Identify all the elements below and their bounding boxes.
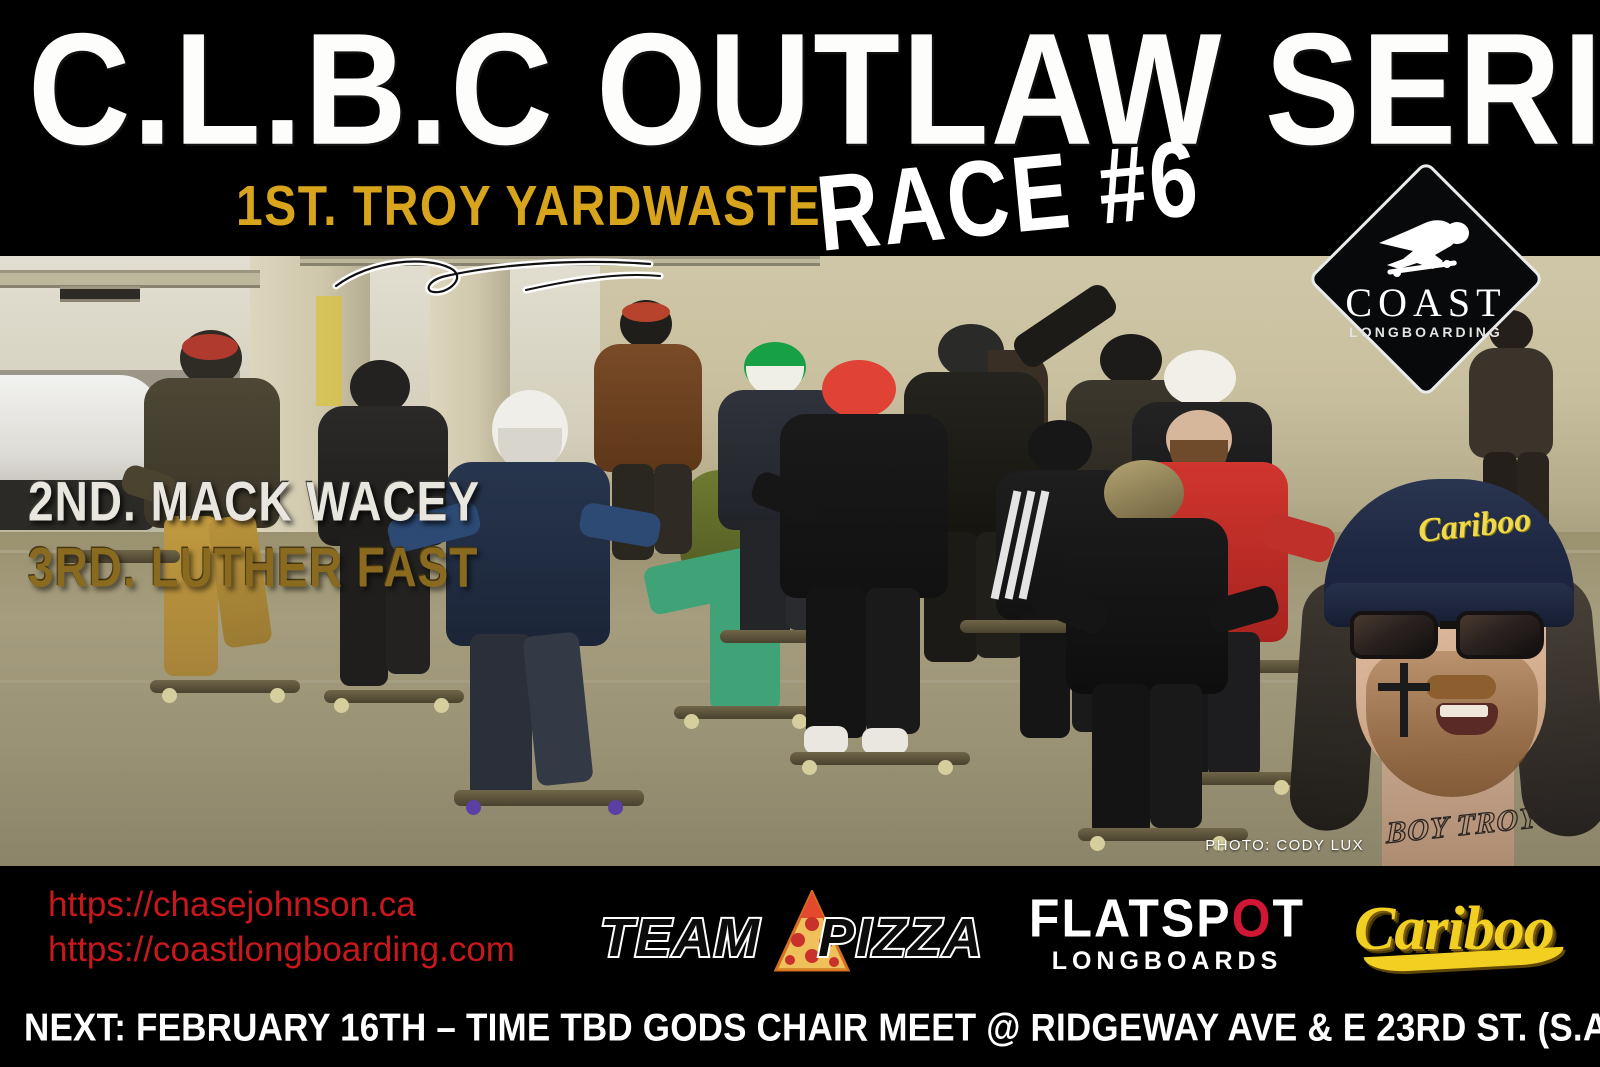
page-title: C.L.B.C OUTLAW SERIES [28, 6, 1576, 174]
placings-overlay: 2ND. MACK WACEY 3RD. LUTHER FAST [28, 470, 480, 588]
cariboo-logo[interactable]: Cariboo [1348, 886, 1588, 974]
team-pizza-logo[interactable]: TEAM PIZZA [596, 888, 996, 972]
flatspot-word-post: T [1273, 888, 1306, 948]
signature-scribble [330, 250, 670, 306]
racer-figure [430, 390, 660, 810]
first-place-text: 1ST. TROY YARDWASTE [236, 178, 821, 237]
winner-portrait-cutout: Cariboo BOY TROY [1290, 455, 1600, 867]
coast-wordmark: COAST [1345, 283, 1506, 323]
racer-figure [1048, 460, 1248, 840]
second-place-text: 2ND. MACK WACEY [28, 470, 480, 532]
sunglass-lens-right [1456, 611, 1544, 659]
flatspot-tagline: LONGBOARDS [1022, 948, 1312, 975]
race-poster: PHOTO: CODY LUX 2ND. MACK WACEY 3RD. LUT… [0, 0, 1600, 1067]
url-list: https://chasejohnson.ca https://coastlon… [48, 882, 515, 972]
url-coastlongboarding[interactable]: https://coastlongboarding.com [48, 927, 515, 972]
flatspot-wordmark: FLATSPOT [1022, 890, 1312, 946]
moustache [1426, 675, 1496, 699]
team-pizza-word-team: TEAM [600, 910, 761, 966]
flatspot-longboards-logo[interactable]: FLATSPOT LONGBOARDS [1022, 890, 1312, 970]
url-chasejohnson[interactable]: https://chasejohnson.ca [48, 882, 515, 927]
third-place-text: 3RD. LUTHER FAST [28, 536, 480, 598]
cross-tattoo-icon [1400, 663, 1408, 737]
racer-figure [770, 360, 970, 760]
longboard-rider-icon [1373, 217, 1479, 281]
flatspot-word-pre: FLATSP [1029, 888, 1232, 948]
coast-tagline: LONGBOARDING [1349, 323, 1503, 341]
footer-bar: NEXT: FEBRUARY 16TH – TIME TBD GODS CHAI… [0, 990, 1600, 1067]
teeth [1440, 705, 1488, 717]
team-pizza-word-pizza: PIZZA [818, 910, 984, 966]
next-event-text: NEXT: FEBRUARY 16TH – TIME TBD GODS CHAI… [24, 1004, 1580, 1052]
sunglass-lens-left [1350, 611, 1438, 659]
sponsor-bar: https://chasejohnson.ca https://coastlon… [0, 866, 1600, 990]
sunglasses-icon [1348, 605, 1554, 661]
flatspot-word-o: O [1232, 888, 1273, 948]
ceiling-vent [60, 286, 140, 302]
coast-longboarding-logo[interactable]: COAST LONGBOARDING [1307, 160, 1545, 398]
